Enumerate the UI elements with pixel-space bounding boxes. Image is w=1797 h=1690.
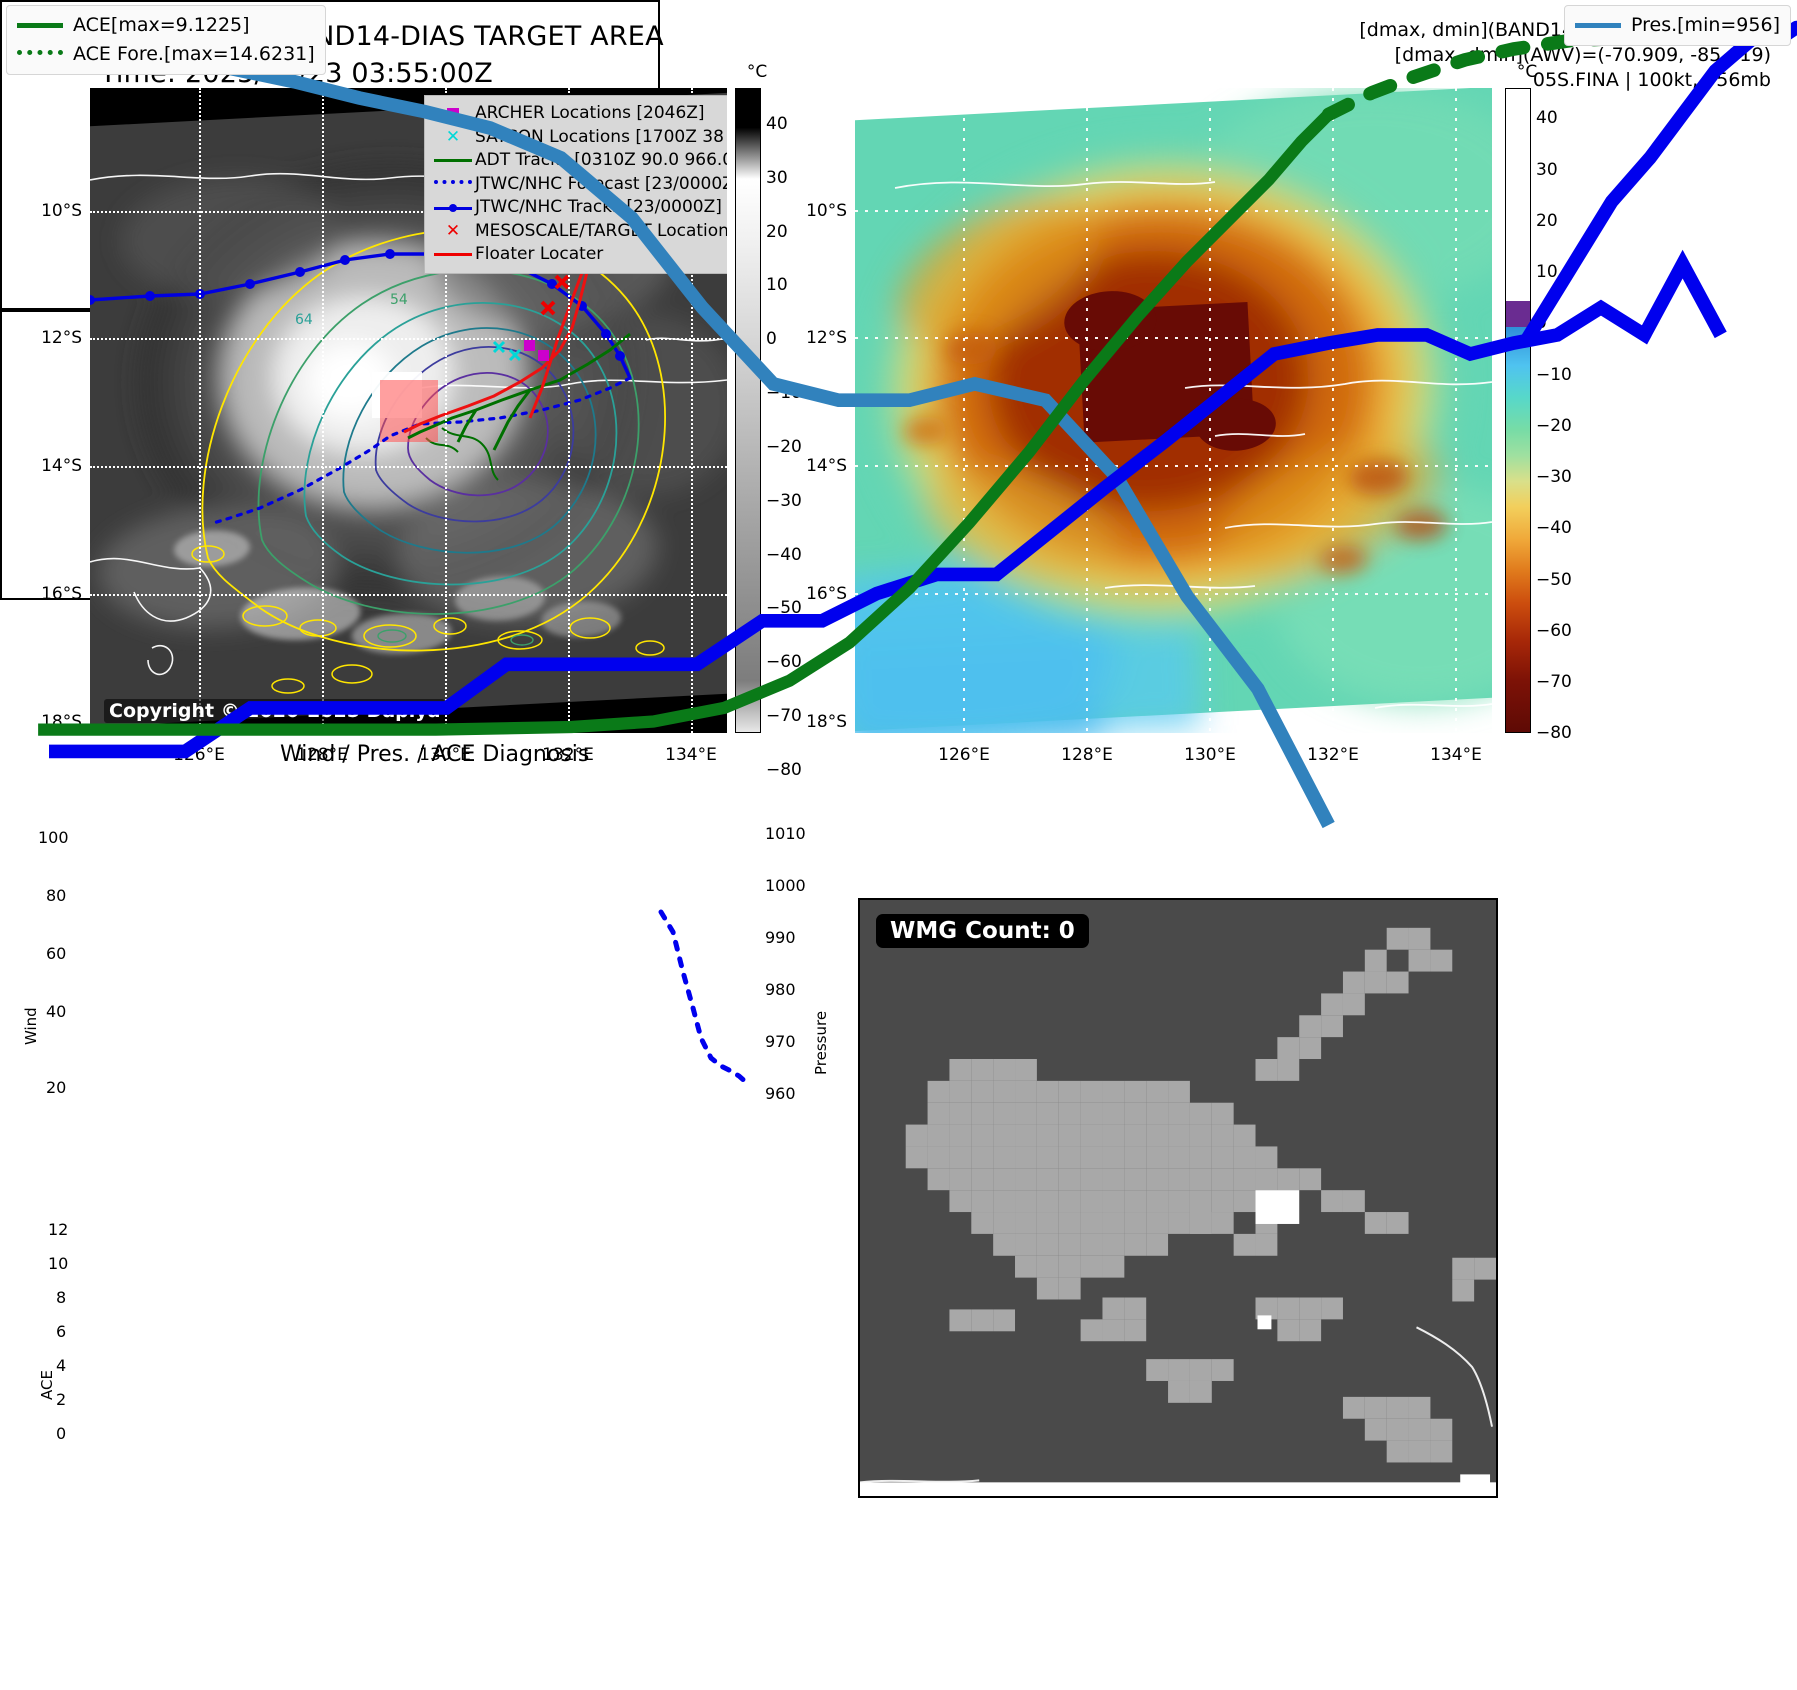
green-dotted-line-icon — [17, 50, 73, 60]
pres-ytick: 970 — [765, 1032, 796, 1051]
wind-ytick: 40 — [46, 1002, 66, 1021]
ace-ytick: 2 — [56, 1390, 66, 1409]
wmg-panel[interactable]: WMG Count: 0 — [858, 898, 1498, 1498]
wmg-mask — [860, 900, 1496, 1496]
ace-legend-label: ACE[max=9.1225] — [73, 11, 250, 40]
green-solid-line-icon — [17, 23, 73, 28]
ace-ytick: 6 — [56, 1322, 66, 1341]
pres-ytick: 990 — [765, 928, 796, 947]
ace-axis-label: ACE — [38, 1370, 56, 1400]
pres-ytick: 1000 — [765, 876, 806, 895]
ace-lines — [0, 0, 1797, 790]
ace-ytick: 0 — [56, 1424, 66, 1443]
ace-chart[interactable]: ACE[max=9.1225] ACE Fore.[max=14.6231] — [0, 310, 660, 600]
lightblue-solid-line-icon — [1575, 23, 1631, 28]
ace-legend-row: ACE[max=9.1225] — [17, 11, 315, 40]
pressure-legend-row: Pres.[min=956] — [1575, 11, 1780, 40]
wind-ytick: 60 — [46, 944, 66, 963]
pressure-axis-label: Pressure — [812, 1011, 830, 1075]
ace-forecast-line — [1329, 35, 1776, 114]
wmg-count-badge: WMG Count: 0 — [876, 914, 1089, 948]
ace-forecast-legend-label: ACE Fore.[max=14.6231] — [73, 40, 315, 69]
ace-ytick: 10 — [48, 1254, 68, 1273]
ace-legend: ACE[max=9.1225] ACE Fore.[max=14.6231] — [6, 5, 326, 75]
wind-axis-label: Wind — [22, 1007, 40, 1045]
dashboard-root: HIMAWARI-8 BAND14-DIAS TARGET AREA Time:… — [0, 0, 1797, 1690]
ace-ytick: 8 — [56, 1288, 66, 1307]
ace-forecast-legend-row: ACE Fore.[max=14.6231] — [17, 40, 315, 69]
ace-line — [38, 114, 1329, 729]
ace-ytick: 4 — [56, 1356, 66, 1375]
pres-ytick: 960 — [765, 1084, 796, 1103]
pressure-legend: Pres.[min=956] — [1564, 5, 1791, 46]
pres-ytick: 980 — [765, 980, 796, 999]
wind-ytick: 20 — [46, 1078, 66, 1097]
pressure-legend-label: Pres.[min=956] — [1631, 11, 1780, 40]
wind-forecast-overlay — [95, 898, 755, 1208]
ace-ytick: 12 — [48, 1220, 68, 1239]
wind-ytick: 80 — [46, 886, 66, 905]
